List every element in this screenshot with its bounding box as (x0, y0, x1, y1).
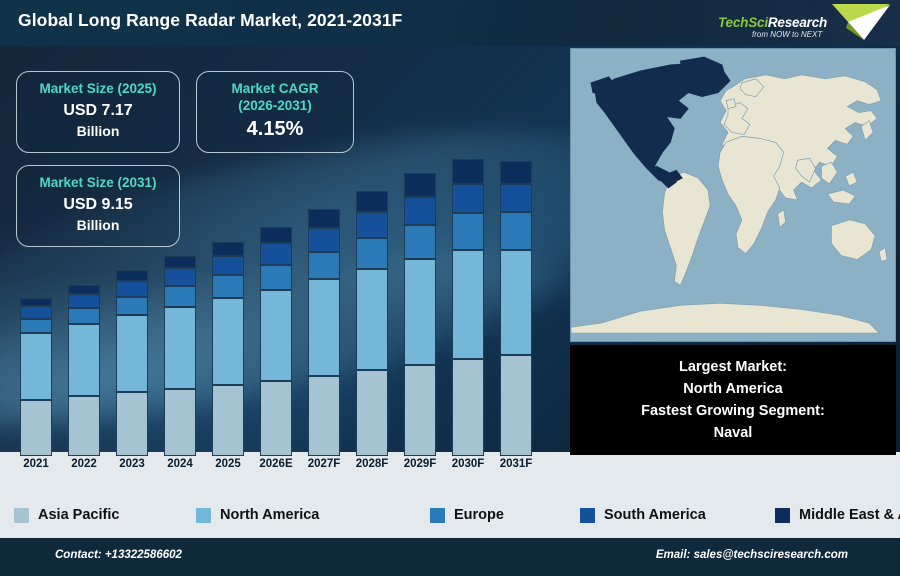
market-size-2025-label: Market Size (2025) (17, 80, 179, 97)
bar-segment-south-america-2022 (68, 294, 100, 308)
bar-segment-south-america-2026E (260, 243, 292, 265)
bar-segment-north-america-2021 (20, 333, 52, 400)
bar-2025 (212, 242, 244, 457)
legend-item-north-america[interactable]: North America (196, 507, 319, 523)
bar-segment-north-america-2030F (452, 250, 484, 359)
bar-segment-middle-east-africa-2031F (500, 161, 532, 184)
infographic-root: 202120222023202420252026E2027F2028F2029F… (0, 0, 900, 576)
bar-segment-north-america-2029F (404, 259, 436, 364)
bar-2029F (404, 173, 436, 456)
bar-segment-middle-east-africa-2029F (404, 173, 436, 197)
legend-item-europe[interactable]: Europe (430, 507, 504, 523)
market-size-2031-value: USD 9.15 (17, 194, 179, 216)
bar-2026E (260, 227, 292, 456)
legend-item-asia-pacific[interactable]: Asia Pacific (14, 507, 119, 523)
bar-segment-north-america-2027F (308, 279, 340, 375)
bar-segment-asia-pacific-2021 (20, 400, 52, 456)
bar-segment-europe-2030F (452, 213, 484, 249)
bar-segment-south-america-2021 (20, 306, 52, 319)
legend-label: North America (220, 507, 319, 523)
bar-2027F (308, 209, 340, 456)
bar-segment-south-america-2024 (164, 268, 196, 286)
bar-2024 (164, 256, 196, 456)
bar-2021 (20, 298, 52, 456)
bar-2028F (356, 191, 388, 456)
bar-segment-europe-2022 (68, 308, 100, 324)
x-axis-label-2028F: 2028F (348, 458, 396, 470)
bar-segment-asia-pacific-2030F (452, 359, 484, 456)
bar-segment-asia-pacific-2029F (404, 365, 436, 456)
x-axis-label-2022: 2022 (60, 458, 108, 470)
largest-market-label: Largest Market: (679, 356, 787, 378)
bar-segment-south-america-2030F (452, 184, 484, 214)
largest-market-value: North America (683, 378, 782, 400)
bar-segment-europe-2023 (116, 297, 148, 315)
market-size-2025-value: USD 7.17 (17, 100, 179, 122)
bar-segment-asia-pacific-2023 (116, 392, 148, 456)
bar-segment-north-america-2025 (212, 298, 244, 385)
market-highlights-box: Largest Market: North America Fastest Gr… (570, 345, 896, 455)
world-map-svg (571, 49, 895, 341)
bar-segment-asia-pacific-2031F (500, 355, 532, 456)
chart-x-axis: 202120222023202420252026E2027F2028F2029F… (0, 458, 568, 480)
legend-swatch-icon (14, 508, 29, 523)
bar-segment-north-america-2023 (116, 315, 148, 392)
bar-segment-europe-2027F (308, 252, 340, 280)
x-axis-label-2023: 2023 (108, 458, 156, 470)
bar-segment-south-america-2023 (116, 281, 148, 297)
market-size-2031-card: Market Size (2031) USD 9.15 Billion (16, 165, 180, 247)
bar-segment-asia-pacific-2025 (212, 385, 244, 456)
chart-legend: Asia PacificNorth AmericaEuropeSouth Ame… (0, 492, 900, 538)
legend-swatch-icon (430, 508, 445, 523)
bar-segment-middle-east-africa-2028F (356, 191, 388, 212)
bar-segment-south-america-2025 (212, 256, 244, 276)
bar-segment-europe-2031F (500, 212, 532, 249)
bar-segment-south-america-2031F (500, 184, 532, 212)
footer-contact[interactable]: Contact: +13322586602 (55, 549, 182, 561)
logo-brand-primary: TechSci (718, 15, 768, 30)
market-cagr-label: Market CAGR (197, 80, 353, 97)
bar-segment-middle-east-africa-2025 (212, 242, 244, 256)
legend-swatch-icon (580, 508, 595, 523)
legend-label: Europe (454, 507, 504, 523)
market-size-2031-label: Market Size (2031) (17, 174, 179, 191)
bar-segment-middle-east-africa-2026E (260, 227, 292, 243)
market-cagr-value: 4.15% (197, 116, 353, 142)
bar-segment-north-america-2031F (500, 250, 532, 356)
x-axis-label-2027F: 2027F (300, 458, 348, 470)
bar-segment-europe-2025 (212, 275, 244, 298)
legend-swatch-icon (196, 508, 211, 523)
x-axis-label-2030F: 2030F (444, 458, 492, 470)
legend-label: Middle East & Africa (799, 507, 900, 523)
bar-segment-middle-east-africa-2022 (68, 285, 100, 294)
footer-bar: Contact: +13322586602 Email: sales@techs… (0, 538, 900, 576)
bar-segment-asia-pacific-2026E (260, 381, 292, 456)
legend-item-middle-east-africa[interactable]: Middle East & Africa (775, 507, 900, 523)
bar-segment-north-america-2028F (356, 269, 388, 370)
market-cagr-card: Market CAGR (2026-2031) 4.15% (196, 71, 354, 153)
bar-segment-north-america-2026E (260, 290, 292, 381)
bar-segment-europe-2028F (356, 238, 388, 269)
bar-segment-asia-pacific-2024 (164, 389, 196, 456)
bar-segment-north-america-2022 (68, 324, 100, 396)
bar-2030F (452, 159, 484, 456)
bar-segment-middle-east-africa-2030F (452, 159, 484, 184)
bar-segment-asia-pacific-2027F (308, 376, 340, 456)
bar-segment-europe-2029F (404, 225, 436, 259)
market-size-2031-unit: Billion (17, 216, 179, 235)
fastest-segment-value: Naval (714, 422, 753, 444)
fastest-segment-label: Fastest Growing Segment: (641, 400, 825, 422)
legend-label: South America (604, 507, 706, 523)
bar-segment-middle-east-africa-2027F (308, 209, 340, 228)
x-axis-label-2024: 2024 (156, 458, 204, 470)
bar-segment-europe-2021 (20, 319, 52, 333)
techsci-logo[interactable]: TechSciResearch from NOW to NEXT (714, 2, 892, 44)
x-axis-label-2021: 2021 (12, 458, 60, 470)
logo-brand-secondary: Research (768, 15, 827, 30)
bar-segment-north-america-2024 (164, 307, 196, 389)
bar-segment-asia-pacific-2028F (356, 370, 388, 456)
bar-segment-europe-2026E (260, 265, 292, 290)
bar-2023 (116, 270, 148, 456)
logo-tagline: from NOW to NEXT (752, 30, 822, 39)
bar-segment-middle-east-africa-2021 (20, 298, 52, 306)
bar-segment-asia-pacific-2022 (68, 396, 100, 456)
header-bar: Global Long Range Radar Market, 2021-203… (0, 0, 900, 46)
legend-label: Asia Pacific (38, 507, 119, 523)
market-size-2025-unit: Billion (17, 122, 179, 141)
bar-2031F (500, 161, 532, 456)
x-axis-label-2031F: 2031F (492, 458, 540, 470)
world-map (570, 48, 896, 342)
x-axis-label-2026E: 2026E (252, 458, 300, 470)
bar-segment-europe-2024 (164, 286, 196, 307)
footer-email[interactable]: Email: sales@techsciresearch.com (656, 549, 848, 561)
bar-segment-middle-east-africa-2024 (164, 256, 196, 268)
legend-item-south-america[interactable]: South America (580, 507, 706, 523)
x-axis-label-2029F: 2029F (396, 458, 444, 470)
bar-2022 (68, 285, 100, 456)
logo-wordmark: TechSciResearch (718, 15, 868, 30)
legend-swatch-icon (775, 508, 790, 523)
market-cagr-period: (2026-2031) (197, 97, 353, 114)
bar-segment-middle-east-africa-2023 (116, 270, 148, 281)
page-title: Global Long Range Radar Market, 2021-203… (18, 10, 402, 31)
x-axis-label-2025: 2025 (204, 458, 252, 470)
bar-segment-south-america-2028F (356, 212, 388, 238)
bar-segment-south-america-2027F (308, 228, 340, 252)
market-size-2025-card: Market Size (2025) USD 7.17 Billion (16, 71, 180, 153)
map-land-britain (726, 99, 736, 109)
bar-segment-south-america-2029F (404, 197, 436, 225)
